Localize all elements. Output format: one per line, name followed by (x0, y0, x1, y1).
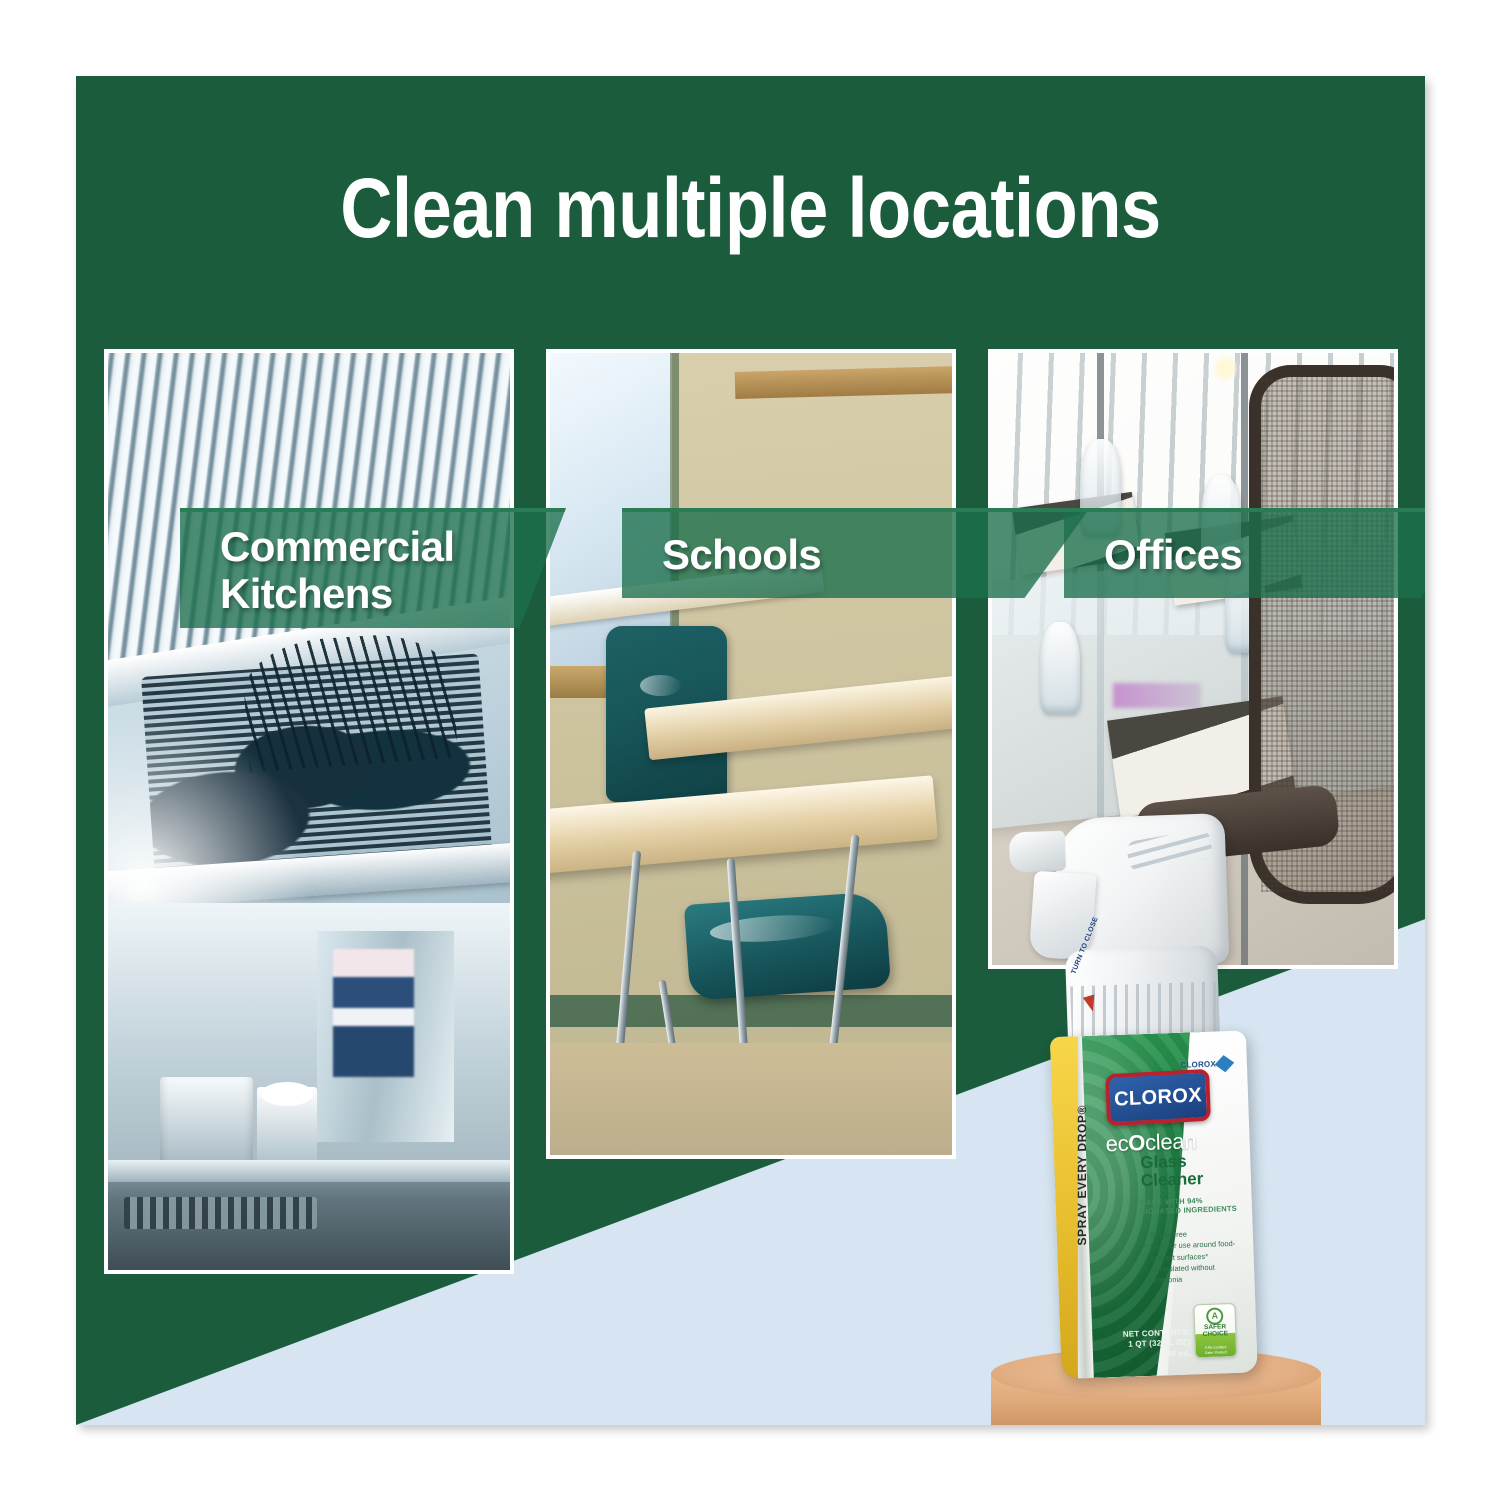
product-name: Glass Cleaner (1140, 1151, 1237, 1190)
desk-surface-front (546, 775, 938, 877)
ecoclean-prefix: ec (1105, 1131, 1128, 1157)
classroom-desks-photo (550, 353, 952, 1155)
cloroxpro-badge: CLOROX (1180, 1057, 1231, 1072)
drinking-glass (1040, 622, 1080, 714)
safer-choice-title: SAFER CHOICE (1195, 1324, 1235, 1339)
list-item: Safe for use around food-contact surface… (1143, 1238, 1240, 1264)
banner-schools: Schools (622, 508, 1090, 598)
banner-label-commercial-kitchens: Commercial Kitchens (180, 523, 454, 617)
wall-trim (735, 366, 956, 399)
safer-choice-badge: SAFER CHOICE EPA Certified Safer Product (1193, 1303, 1237, 1358)
banner-label-schools: Schools (622, 531, 821, 578)
trigger-grip-ridges (1125, 828, 1213, 872)
chair-seat (684, 891, 891, 1001)
stove-rail (108, 1160, 510, 1182)
wall-poster (333, 949, 413, 1077)
list-item: Formulated without ammonia (1144, 1261, 1241, 1287)
banner-offices: Offices (1064, 508, 1425, 598)
label-yellow-band: SPRAY EVERY DROP® (1050, 1036, 1078, 1379)
ecoclean-mid: O (1128, 1130, 1146, 1156)
marketing-card: Clean multiple locations (76, 76, 1425, 1425)
safer-choice-seal-icon (1206, 1307, 1224, 1325)
clorox-diamond-logo: CLOROX (1105, 1069, 1211, 1126)
ecoclean-suffix: clean (1145, 1128, 1197, 1155)
pan-contents (261, 1082, 313, 1106)
banner-commercial-kitchens: Commercial Kitchens (180, 508, 566, 628)
net-contents-text: NET CONTENTS: 1 QT (32 FL OZ) 946 mL (1094, 1327, 1191, 1362)
safer-choice-subtitle: EPA Certified Safer Product (1196, 1345, 1236, 1355)
baseboard (550, 995, 952, 1027)
bottle-body: SPRAY EVERY DROP® CLOROX ecOclean CLOROX… (1050, 1030, 1258, 1379)
page-title: Clean multiple locations (170, 160, 1330, 257)
spray-every-drop-text: SPRAY EVERY DROP® (1075, 1095, 1089, 1256)
banner-label-offices: Offices (1064, 531, 1242, 578)
classroom-floor (550, 1043, 952, 1155)
clorox-wordmark: CLOROX (1114, 1084, 1203, 1112)
spray-bottle: TURN TO CLOSE SPRAY EVERY DROP® CLOROX e… (1024, 812, 1263, 1379)
biobased-claim: MADE WITH 94% BIOBASED INGREDIENTS (1140, 1195, 1239, 1217)
cloroxpro-text: CLOROX (1180, 1059, 1216, 1069)
feature-bullets: Streak-free Safe for use around food-con… (1143, 1227, 1241, 1287)
oven-vents (124, 1197, 317, 1229)
commercial-kitchen-photo (108, 353, 510, 1270)
ceiling-light (1213, 353, 1237, 384)
panel-schools (546, 349, 956, 1159)
panel-commercial-kitchens (104, 349, 514, 1274)
color-reflection (1113, 683, 1201, 707)
product-shot: TURN TO CLOSE SPRAY EVERY DROP® CLOROX e… (956, 816, 1376, 1425)
spray-nozzle (1009, 831, 1066, 873)
